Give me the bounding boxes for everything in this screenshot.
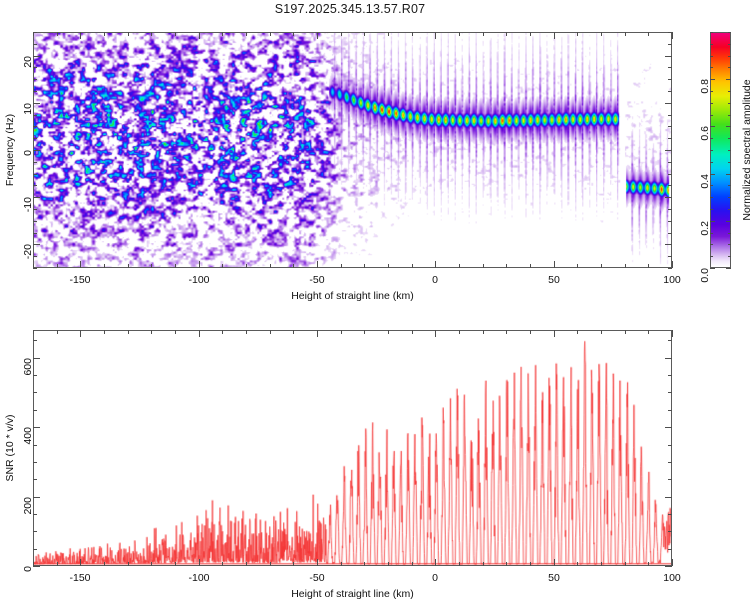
snr-x-axis-label: Height of straight line (km) [33, 588, 672, 600]
spectrogram-x-axis-label: Height of straight line (km) [33, 290, 672, 302]
page-title: S197.2025.345.13.57.R07 [0, 2, 700, 16]
colorbar-label: Normalized spectral amplitude [741, 79, 750, 220]
snr-line-plot [34, 331, 671, 565]
spectrogram-y-axis-label: Frequency (Hz) [4, 114, 16, 186]
spectrogram-image [34, 33, 671, 267]
snr-panel [33, 330, 672, 566]
spectrogram-panel [33, 32, 672, 268]
figure-root: S197.2025.345.13.57.R07 -150-100-5005010… [0, 0, 750, 600]
snr-y-axis-label: SNR (10 * v/v) [4, 414, 16, 481]
